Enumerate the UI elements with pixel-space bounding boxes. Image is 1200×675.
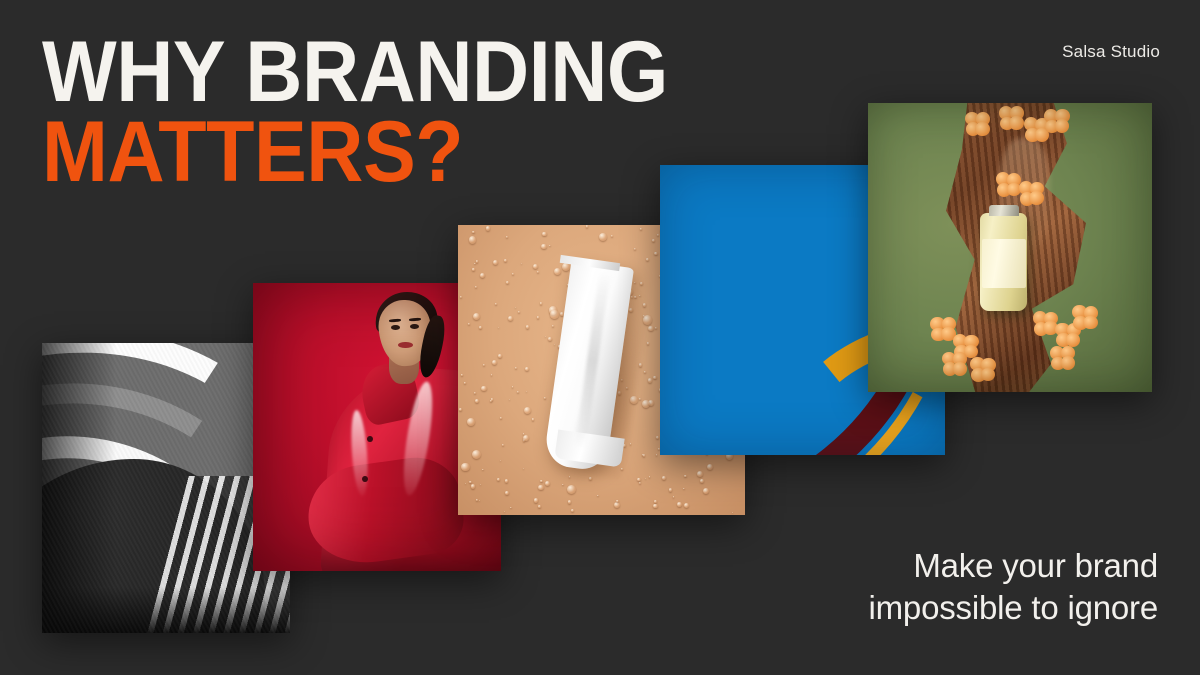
tagline-line-1: Make your brand (869, 545, 1159, 587)
brand-name: Salsa Studio (1062, 42, 1160, 62)
page-title: WHY BRANDING MATTERS? (42, 36, 722, 190)
tagline: Make your brand impossible to ignore (869, 545, 1159, 629)
tagline-line-2: impossible to ignore (869, 587, 1159, 629)
botanical-serum-image (868, 103, 1152, 392)
headline-line-1: WHY BRANDING (42, 36, 668, 110)
presentation-slide: Salsa Studio WHY BRANDING MATTERS? (0, 0, 1200, 675)
gallery-card-botanical[interactable] (868, 103, 1152, 392)
headline-line-2: MATTERS? (42, 116, 668, 190)
